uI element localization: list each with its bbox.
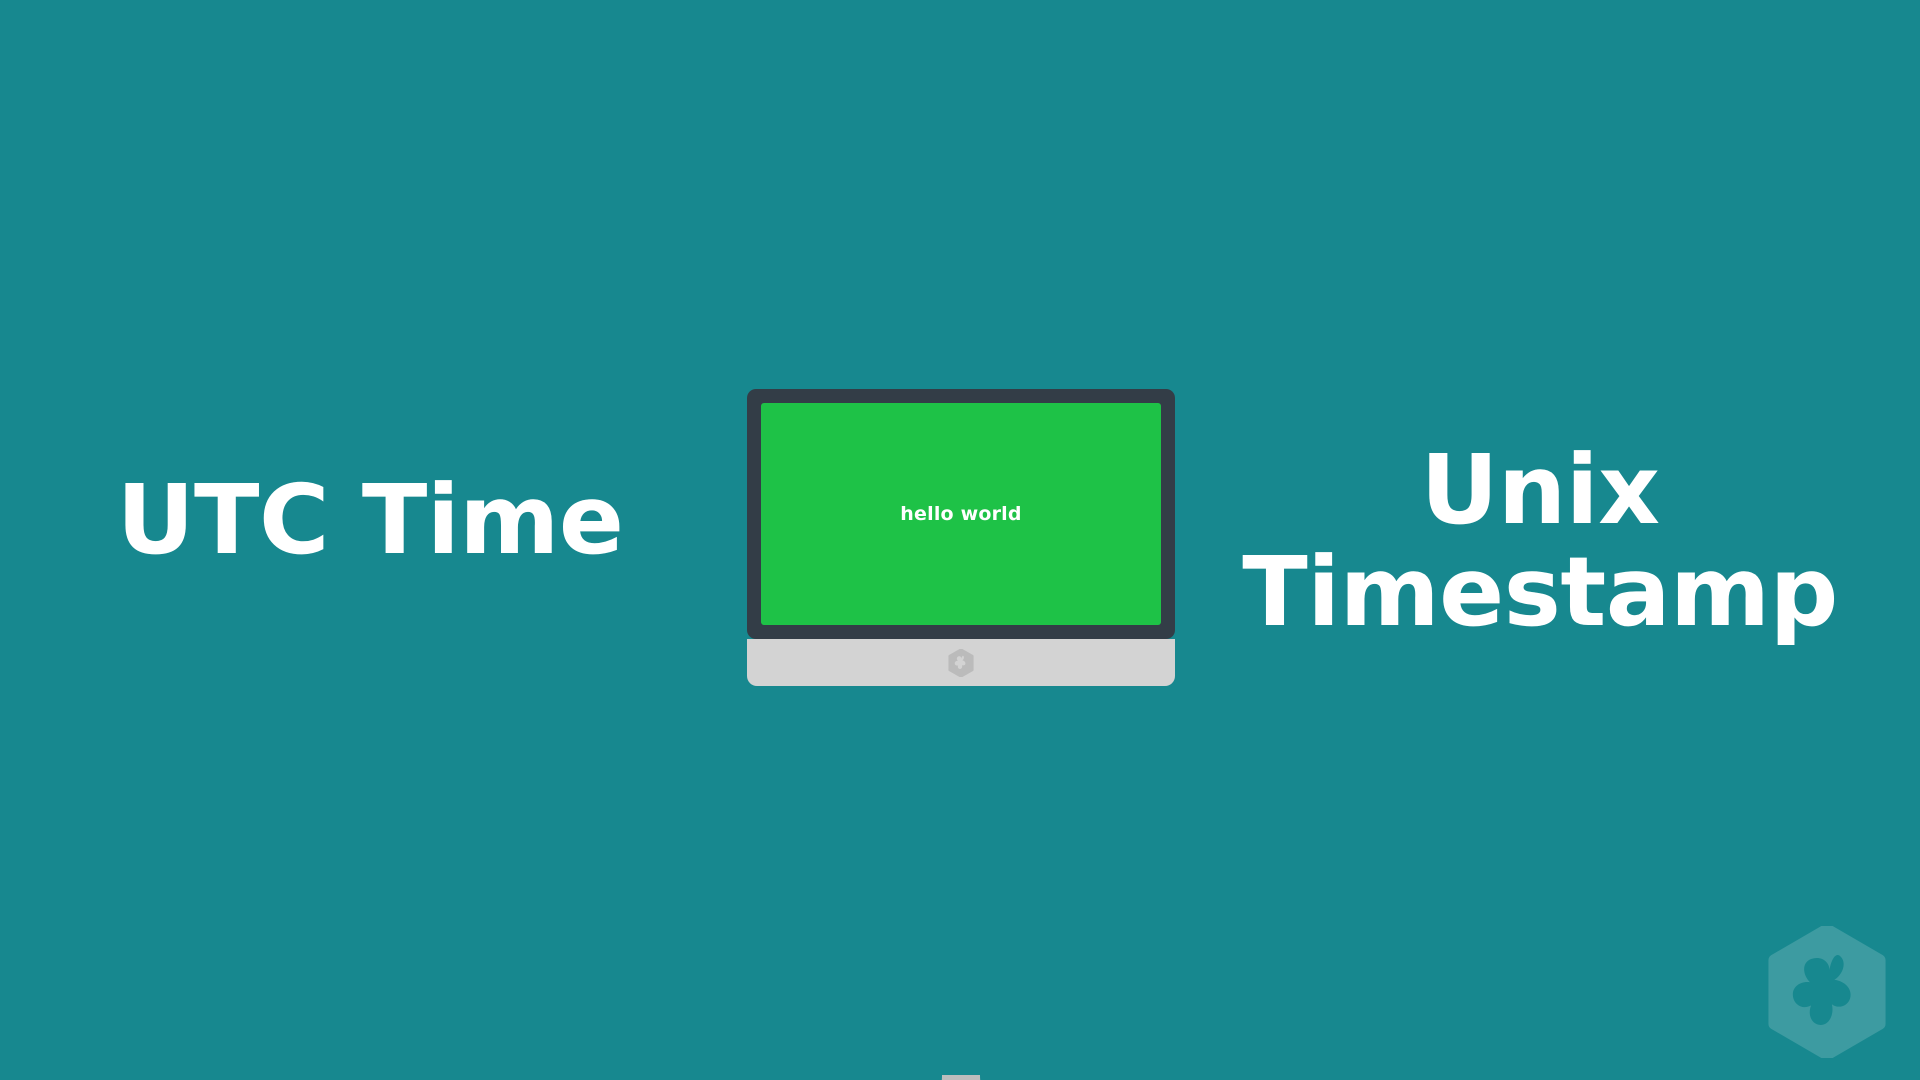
slide-canvas: UTC Time hello world Unix Timestamp xyxy=(0,0,1920,1080)
monitor-illustration: hello world xyxy=(747,389,1175,686)
caption-unix-timestamp: Unix Timestamp xyxy=(1160,440,1920,644)
monitor-chin xyxy=(747,639,1175,686)
screen-text: hello world xyxy=(900,503,1021,525)
monitor-screen: hello world xyxy=(761,403,1161,625)
monitor-stand-neck xyxy=(906,1075,1016,1080)
caption-utc-time: UTC Time xyxy=(0,470,740,572)
brand-hexagon-watermark xyxy=(1766,926,1888,1058)
monitor-bezel: hello world xyxy=(747,389,1175,639)
brand-hexagon-icon xyxy=(948,649,974,677)
